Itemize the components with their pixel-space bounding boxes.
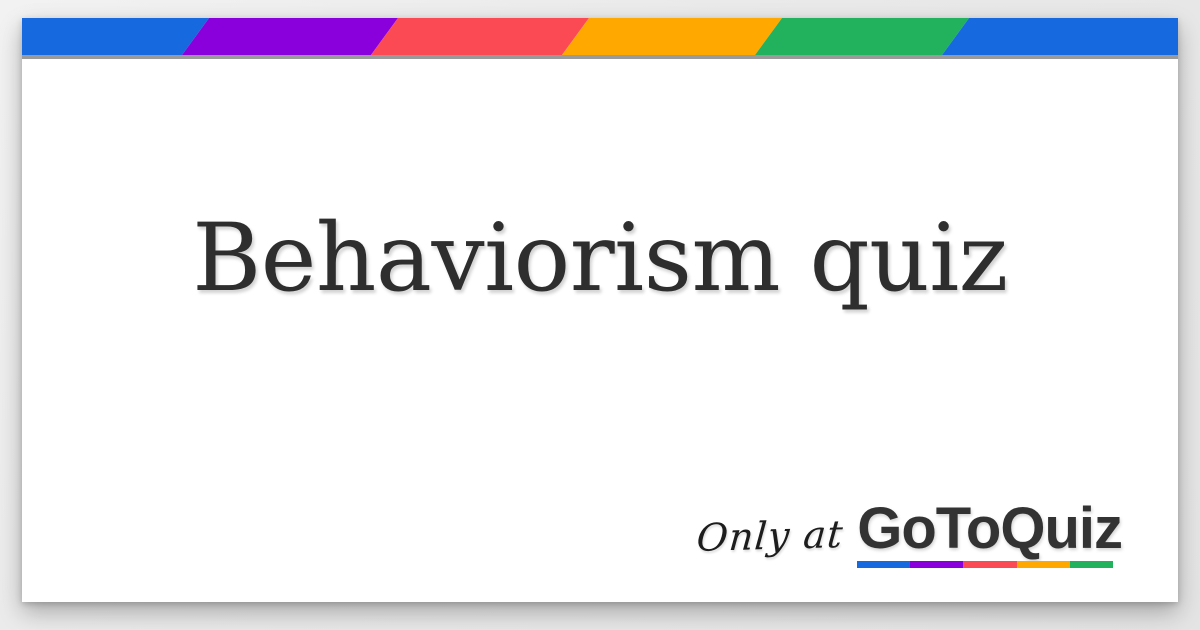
quiz-share-card: Behaviorism quiz Only at GoToQuiz (22, 18, 1178, 602)
underline-segment-purple (910, 561, 963, 568)
stripe-orange (562, 18, 782, 55)
underline-segment-orange (1017, 561, 1070, 568)
stripe-blue-2 (942, 18, 1178, 55)
brand-lockup: Only at GoToQuiz (697, 499, 1122, 568)
stripe-red (371, 18, 589, 55)
underline-segment-red (963, 561, 1017, 568)
gotoquiz-logo[interactable]: GoToQuiz (857, 499, 1122, 568)
brand-only-at-text: Only at (695, 512, 845, 560)
underline-segment-green (1070, 561, 1113, 568)
brand-underline-bar (857, 561, 1113, 568)
stripe-purple (182, 18, 398, 55)
quiz-title: Behaviorism quiz (132, 210, 1068, 309)
underline-segment-blue (857, 561, 910, 568)
stripe-blue (22, 18, 209, 55)
rainbow-stripe-band (22, 18, 1178, 55)
stripe-green (755, 18, 969, 55)
share-card-canvas: Behaviorism quiz Only at GoToQuiz (0, 0, 1200, 630)
title-area: Behaviorism quiz (22, 59, 1178, 459)
brand-name-text: GoToQuiz (857, 499, 1122, 558)
